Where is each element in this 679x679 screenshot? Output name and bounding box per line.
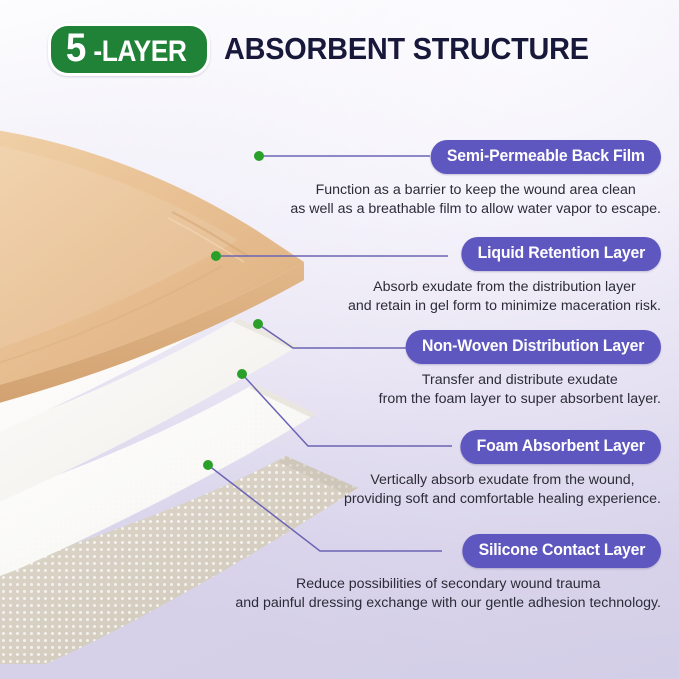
layer-label-3[interactable]: Non-Woven Distribution Layer: [406, 330, 661, 364]
infographic-canvas: 5 -LAYER ABSORBENT STRUCTURE Semi-Permea…: [0, 0, 679, 679]
layer-label-5[interactable]: Silicone Contact Layer: [462, 534, 661, 568]
layer-label-2[interactable]: Liquid Retention Layer: [461, 237, 661, 271]
page-header: 5 -LAYER ABSORBENT STRUCTURE: [0, 18, 679, 80]
callout-semi-permeable-back-film: Semi-Permeable Back Film Function as a b…: [290, 140, 661, 218]
layer-description-5: Reduce possibilities of secondary wound …: [235, 575, 661, 612]
page-title: ABSORBENT STRUCTURE: [224, 31, 589, 67]
callout-non-woven-distribution-layer: Non-Woven Distribution Layer Transfer an…: [379, 330, 661, 408]
layer-description-3: Transfer and distribute exudate from the…: [379, 371, 661, 408]
layer-description-5-line-2: and painful dressing exchange with our g…: [235, 594, 661, 613]
layer-description-2: Absorb exudate from the distribution lay…: [348, 278, 661, 315]
callout-silicone-contact-layer: Silicone Contact Layer Reduce possibilit…: [235, 534, 661, 612]
layer-label-4[interactable]: Foam Absorbent Layer: [460, 430, 661, 464]
badge-word: -LAYER: [94, 36, 187, 68]
layer-description-1-line-2: as well as a breathable film to allow wa…: [290, 200, 661, 219]
layer-description-1: Function as a barrier to keep the wound …: [290, 181, 661, 218]
layer-description-3-line-2: from the foam layer to super absorbent l…: [379, 390, 661, 409]
layer-description-5-line-1: Reduce possibilities of secondary wound …: [235, 575, 661, 594]
layer-description-4: Vertically absorb exudate from the wound…: [344, 471, 661, 508]
layer-description-1-line-1: Function as a barrier to keep the wound …: [290, 181, 661, 200]
layer-label-1[interactable]: Semi-Permeable Back Film: [430, 140, 661, 174]
layer-description-2-line-1: Absorb exudate from the distribution lay…: [348, 278, 661, 297]
layer-description-3-line-1: Transfer and distribute exudate: [379, 371, 661, 390]
callout-foam-absorbent-layer: Foam Absorbent Layer Vertically absorb e…: [344, 430, 661, 508]
layer-description-4-line-1: Vertically absorb exudate from the wound…: [344, 471, 661, 490]
layer-description-2-line-2: and retain in gel form to minimize macer…: [348, 297, 661, 316]
badge-number: 5: [66, 28, 86, 68]
callout-liquid-retention-layer: Liquid Retention Layer Absorb exudate fr…: [348, 237, 661, 315]
five-layer-badge: 5 -LAYER: [48, 23, 210, 76]
layer-description-4-line-2: providing soft and comfortable healing e…: [344, 490, 661, 509]
